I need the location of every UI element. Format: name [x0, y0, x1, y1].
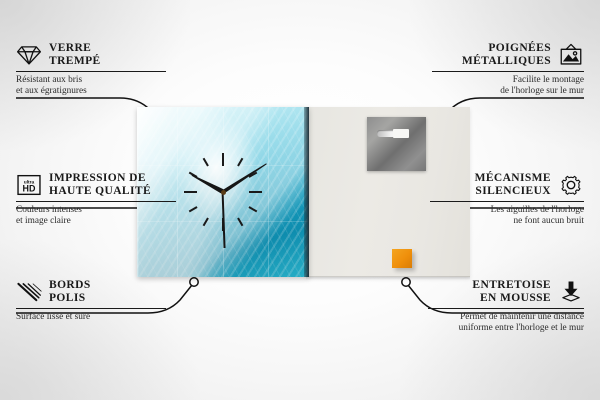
callout-title: IMPRESSION DE HAUTE QUALITÉ: [49, 172, 151, 197]
callout-bords-polis[interactable]: BORDS POLIS Surface lisse et sûre: [16, 279, 166, 323]
callout-verre-trempe[interactable]: VERRE TREMPÉ Résistant aux bris et aux é…: [16, 42, 166, 97]
callout-rule: [16, 71, 166, 72]
callout-header: ENTRETOISE EN MOUSSE: [428, 279, 584, 304]
callout-subtitle: Permet de maintenir une distance uniform…: [428, 312, 584, 334]
hand-cap: [221, 190, 226, 195]
marker-bords-polis: [190, 278, 198, 286]
callout-rule: [16, 201, 176, 202]
ultra-hd-icon: ultra HD: [16, 173, 42, 197]
callout-rule: [432, 71, 584, 72]
polished-edges-icon: [16, 280, 42, 304]
product-wall-clock: [137, 107, 470, 277]
hanger-slot-highlight: [393, 129, 409, 138]
callout-mecanisme-silencieux[interactable]: MÉCANISME SILENCIEUX Les aiguilles de l'…: [430, 172, 584, 227]
callout-rule: [16, 308, 166, 309]
foam-spacer: [392, 249, 412, 268]
gear-icon: [558, 173, 584, 197]
callout-header: VERRE TREMPÉ: [16, 42, 166, 67]
callout-subtitle: Surface lisse et sûre: [16, 312, 166, 323]
callout-header: MÉCANISME SILENCIEUX: [430, 172, 584, 197]
callout-rule: [430, 201, 584, 202]
picture-hanger-icon: [558, 43, 584, 67]
callout-impression-haute-qualite[interactable]: ultra HD IMPRESSION DE HAUTE QUALITÉ Cou…: [16, 172, 176, 227]
callout-subtitle: Facilite le montage de l'horloge sur le …: [432, 75, 584, 97]
callout-header: POIGNÉES MÉTALLIQUES: [432, 42, 584, 67]
callout-entretoise-en-mousse[interactable]: ENTRETOISE EN MOUSSE Permet de maintenir…: [428, 279, 584, 334]
callout-poignees-metalliques[interactable]: POIGNÉES MÉTALLIQUES Facilite le montage…: [432, 42, 584, 97]
callout-subtitle: Résistant aux bris et aux égratignures: [16, 75, 166, 97]
infographic-canvas: VERRE TREMPÉ Résistant aux bris et aux é…: [0, 0, 600, 400]
callout-title: ENTRETOISE EN MOUSSE: [472, 279, 551, 304]
foam-spacer-icon: [558, 280, 584, 304]
callout-title: MÉCANISME SILENCIEUX: [475, 172, 551, 197]
metal-hanger: [367, 117, 426, 171]
svg-text:HD: HD: [23, 183, 36, 193]
callout-header: BORDS POLIS: [16, 279, 166, 304]
callout-title: BORDS POLIS: [49, 279, 91, 304]
callout-subtitle: Couleurs intenses et image claire: [16, 205, 176, 227]
callout-header: ultra HD IMPRESSION DE HAUTE QUALITÉ: [16, 172, 176, 197]
callout-subtitle: Les aiguilles de l'horloge ne font aucun…: [430, 205, 584, 227]
glass-edge-right: [304, 107, 309, 277]
callout-title: POIGNÉES MÉTALLIQUES: [462, 42, 551, 67]
callout-title: VERRE TREMPÉ: [49, 42, 101, 67]
callout-rule: [428, 308, 584, 309]
diamond-icon: [16, 43, 42, 67]
